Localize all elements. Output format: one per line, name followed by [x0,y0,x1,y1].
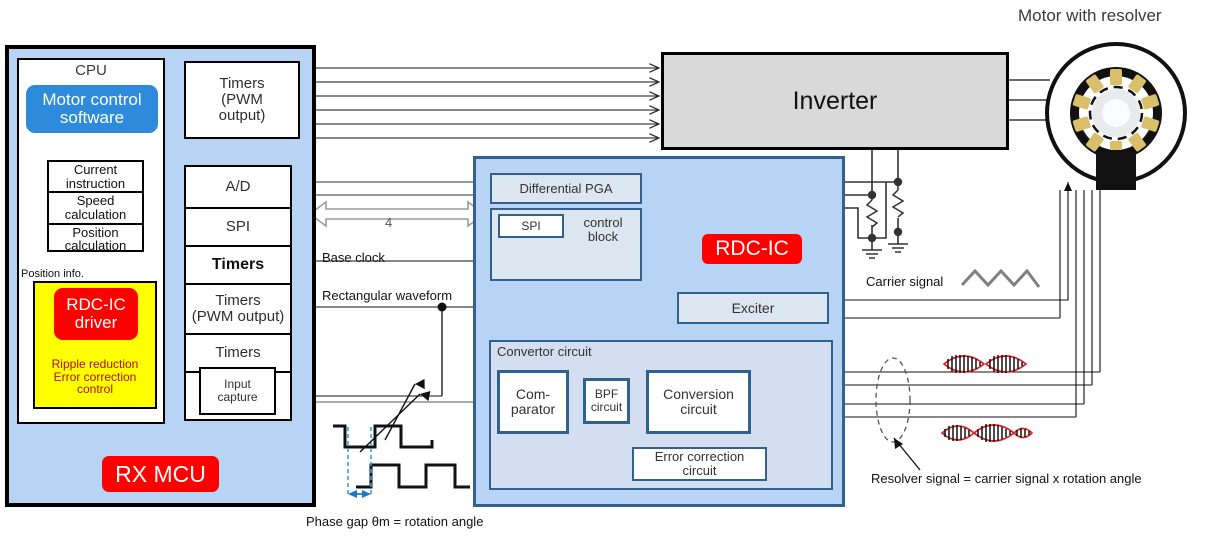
peripheral-timers-bold[interactable]: Timers [186,247,290,285]
control-block-line1: control [583,216,622,230]
comparator-line2: parator [511,402,555,417]
cpu-function-position-calculation: Position calculation [49,225,142,254]
comparator-block[interactable]: Com- parator [497,370,569,434]
bpf-circuit-block[interactable]: BPF circuit [583,378,630,424]
diagram-canvas: CPU Motor control software Current instr… [0,0,1211,542]
timers-pwm-top-line3: output) [219,108,266,124]
error-correction-line1: Error correction [655,450,745,464]
exciter-block[interactable]: Exciter [677,292,829,324]
control-block-line2: block [588,230,618,244]
cpu-function-current-instruction: Current instruction [49,162,142,193]
comparator-line1: Com- [516,387,550,402]
timers-pwm-output-top-block[interactable]: Timers (PWM output) [184,61,300,139]
error-correction-line2: circuit [683,464,717,478]
rdc-ic-driver-badge: RDC-IC driver [54,288,138,340]
position-info-label: Position info. [21,268,84,280]
peripheral-spi[interactable]: SPI [186,209,290,247]
error-correction-circuit-block[interactable]: Error correction circuit [632,447,767,481]
driver-desc-line3: control [77,383,113,396]
cpu-function-speed-calculation: Speed calculation [49,193,142,224]
cpu-label: CPU [17,61,165,81]
peripheral-ad[interactable]: A/D [186,167,290,209]
peripheral-timers-pwm-line2: (PWM output) [192,309,285,325]
rdc-ic-driver-description: Ripple reduction Error correction contro… [33,348,157,406]
conversion-line1: Conversion [663,387,734,402]
driver-desc-line1: Ripple reduction [52,358,139,371]
rectangular-waveform-label: Rectangular waveform [322,288,452,303]
peripheral-timers-pwm-line1: Timers [215,293,260,309]
rx-mcu-badge: RX MCU [102,456,219,492]
conversion-line2: circuit [680,402,717,417]
input-capture-line2: capture [217,391,257,404]
motor-with-resolver-title: Motor with resolver [1018,6,1162,26]
resolver-signal-label: Resolver signal = carrier signal x rotat… [871,471,1142,486]
spi-bus-width-label: 4 [385,215,392,230]
rdc-spi-block[interactable]: SPI [498,214,564,238]
peripheral-timers-pwm[interactable]: Timers (PWM output) [186,285,290,335]
rdc-ic-badge: RDC-IC [702,234,802,264]
carrier-signal-label: Carrier signal [866,274,943,289]
convertor-circuit-label: Convertor circuit [497,344,592,359]
base-clock-label: Base clock [322,250,385,265]
timers-pwm-top-line1: Timers [219,76,264,92]
inverter-block[interactable]: Inverter [661,52,1009,150]
control-block-label: control block [566,211,640,249]
differential-pga-block[interactable]: Differential PGA [490,173,642,204]
conversion-circuit-block[interactable]: Conversion circuit [646,370,751,434]
cpu-function-stack: Current instruction Speed calculation Po… [47,160,144,252]
bpf-line2: circuit [591,401,622,414]
phase-gap-label: Phase gap θm = rotation angle [306,514,483,529]
timers-pwm-top-line2: (PWM [221,92,263,108]
motor-control-software-block[interactable]: Motor control software [26,85,158,133]
input-capture-block[interactable]: Input capture [199,367,276,415]
